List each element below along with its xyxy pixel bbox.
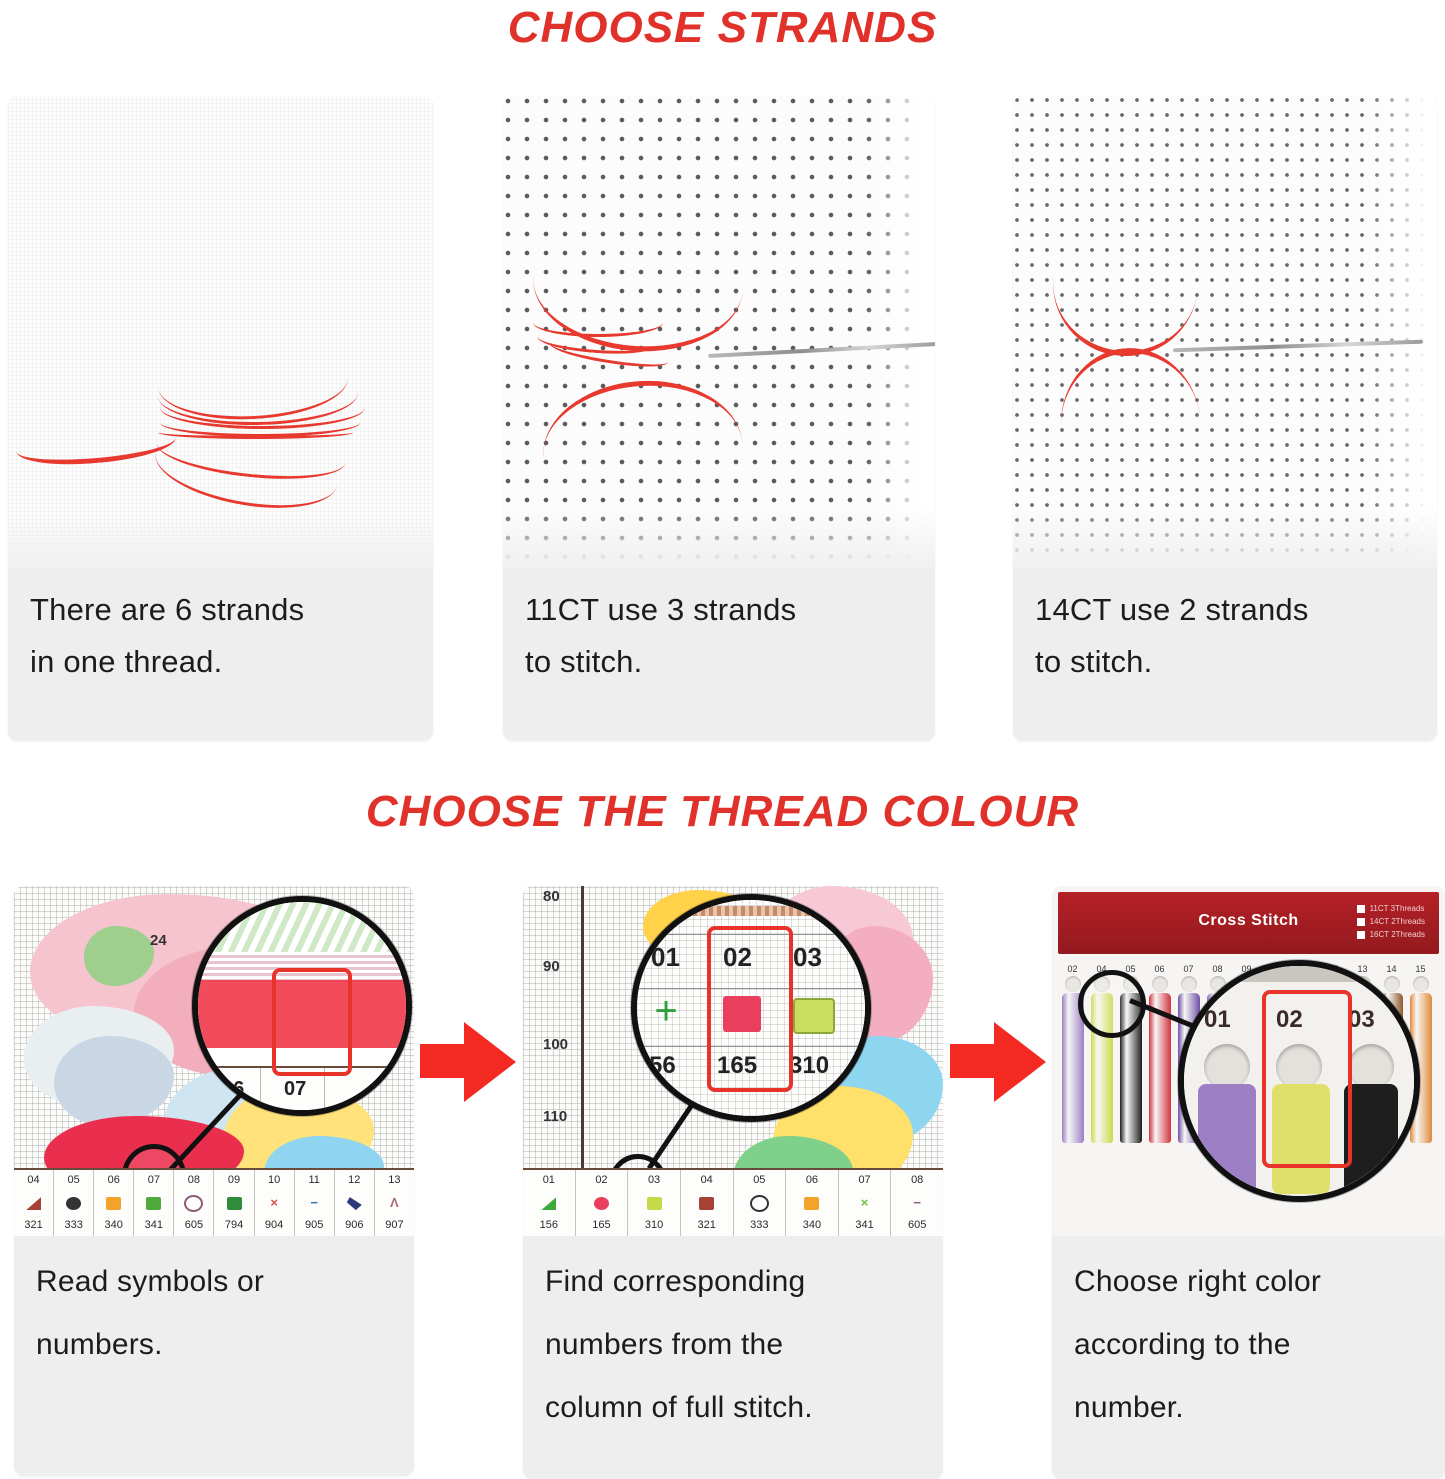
legend-column-number: 06 — [94, 1170, 134, 1191]
magnifier-lens: 06 07 — [192, 896, 412, 1116]
legend-dmc-code: 905 — [295, 1215, 335, 1236]
legend-column-number: 03 — [628, 1170, 681, 1191]
legend-symbol-row: ×−Λ — [14, 1191, 414, 1215]
legend-dmc-code: 321 — [14, 1215, 54, 1236]
legend-dmc-code: 321 — [681, 1215, 734, 1236]
symbol-outline-square — [793, 998, 835, 1034]
legend-symbol: × — [839, 1191, 892, 1215]
caption-line: according to the — [1074, 1313, 1423, 1376]
infographic-page: CHOOSE STRANDS There are 6 strands in on… — [0, 0, 1445, 1479]
legend-dmc-code: 605 — [891, 1215, 943, 1236]
chart-row-label: 100 — [543, 1036, 568, 1053]
section-heading-choose-strands: CHOOSE STRANDS — [0, 2, 1445, 54]
card-11ct-three-strands: 11CT use 3 strands to stitch. — [503, 96, 935, 741]
legend-dmc-code: 794 — [214, 1215, 254, 1236]
caption-14ct: 14CT use 2 strands to stitch. — [1013, 568, 1437, 698]
legend-column-number: 08 — [891, 1170, 943, 1191]
chart-axis-vertical — [581, 886, 584, 1178]
caption-line: 14CT use 2 strands — [1035, 584, 1415, 636]
loupe-column-label: 06 — [222, 1078, 244, 1101]
symbol-plus-icon: + — [649, 996, 683, 1030]
photo-six-strands — [8, 96, 433, 568]
arrow-head — [464, 1022, 516, 1102]
banner-legend-item: 14CT 2Threads — [1357, 917, 1425, 926]
photo-pattern-chart: 24 02 06 07 0405060 — [14, 886, 414, 1236]
checkbox-icon — [1357, 905, 1365, 913]
banner-legend-label: 11CT 3Threads — [1370, 904, 1425, 913]
legend-symbol — [681, 1191, 734, 1215]
legend-dmc-code: 333 — [734, 1215, 787, 1236]
thread-card-banner: Cross Stitch 11CT 3Threads14CT 2Threads1… — [1058, 892, 1439, 954]
legend-column-number: 01 — [523, 1170, 576, 1191]
loupe-column-label: 07 — [284, 1078, 306, 1101]
loupe-column-label: 03 — [1348, 1006, 1375, 1034]
legend-column-number: 05 — [734, 1170, 787, 1191]
highlight-box — [272, 968, 352, 1076]
legend-column-number: 02 — [576, 1170, 629, 1191]
chart-row-label: 80 — [543, 888, 560, 905]
banner-legend-label: 14CT 2Threads — [1370, 917, 1425, 926]
legend-symbol — [523, 1191, 576, 1215]
highlight-box — [707, 926, 793, 1092]
floss-skein — [1344, 1084, 1398, 1194]
legend-dmc-code: 340 — [94, 1215, 134, 1236]
legend-symbol-row: ×− — [523, 1191, 943, 1215]
photo-11ct — [503, 96, 935, 568]
section-heading-choose-thread-colour: CHOOSE THE THREAD COLOUR — [0, 786, 1445, 838]
legend-symbol — [54, 1191, 94, 1215]
legend-dmc-code: 341 — [839, 1215, 892, 1236]
banner-legend-label: 16CT 2Threads — [1370, 930, 1425, 939]
legend-column-number: 07 — [134, 1170, 174, 1191]
caption-line: column of full stitch. — [545, 1376, 921, 1439]
photo-14ct — [1013, 96, 1437, 568]
legend-column-number: 10 — [255, 1170, 295, 1191]
skein-hole — [1413, 976, 1429, 992]
legend-dmc-code: 310 — [628, 1215, 681, 1236]
arrow-shaft — [420, 1044, 468, 1078]
legend-symbol: × — [255, 1191, 295, 1215]
legend-number-row: 0102030405060708 — [523, 1170, 943, 1191]
chart-area-label: 24 — [150, 932, 167, 949]
legend-symbol: − — [295, 1191, 335, 1215]
legend-dmc-code: 333 — [54, 1215, 94, 1236]
loupe-code-label: 310 — [789, 1052, 829, 1080]
chart-row-label: 110 — [543, 1108, 567, 1125]
arrow-right-icon-2 — [950, 1022, 1046, 1102]
legend-column-number: 12 — [335, 1170, 375, 1191]
caption-find-numbers: Find corresponding numbers from the colu… — [523, 1236, 943, 1449]
caption-line: 11CT use 3 strands — [525, 584, 913, 636]
caption-line: Choose right color — [1074, 1250, 1423, 1313]
caption-line: to stitch. — [525, 636, 913, 688]
loupe-column-label: 03 — [793, 942, 822, 973]
checkbox-icon — [1357, 918, 1365, 926]
photo-bottom-fade — [8, 508, 433, 568]
caption-11ct: 11CT use 3 strands to stitch. — [503, 568, 935, 698]
skein-hole — [1065, 976, 1081, 992]
legend-dmc-code: 906 — [335, 1215, 375, 1236]
legend-column-number: 06 — [786, 1170, 839, 1191]
highlight-box — [1262, 990, 1352, 1168]
caption-line: numbers from the — [545, 1313, 921, 1376]
legend-symbol — [214, 1191, 254, 1215]
legend-column-number: 04 — [14, 1170, 54, 1191]
loupe-code-label: 56 — [649, 1052, 676, 1080]
legend-symbol — [576, 1191, 629, 1215]
caption-line: Read symbols or — [36, 1250, 392, 1313]
loupe-column-label: 01 — [651, 942, 680, 973]
photo-bottom-fade — [1013, 508, 1437, 568]
legend-column-number: 13 — [375, 1170, 414, 1191]
caption-line: to stitch. — [1035, 636, 1415, 688]
caption-choose-color: Choose right color according to the numb… — [1052, 1236, 1445, 1449]
card-14ct-two-strands: 14CT use 2 strands to stitch. — [1013, 96, 1437, 741]
caption-line: numbers. — [36, 1313, 392, 1376]
legend-dmc-code: 156 — [523, 1215, 576, 1236]
card-find-numbers: 8090100110 01 02 03 + 56 165 310 — [523, 886, 943, 1479]
banner-legend-list: 11CT 3Threads14CT 2Threads16CT 2Threads — [1357, 904, 1425, 943]
caption-line: in one thread. — [30, 636, 411, 688]
legend-symbol: − — [891, 1191, 943, 1215]
card-six-strands: There are 6 strands in one thread. — [8, 96, 433, 741]
photo-right-fade — [865, 96, 935, 568]
legend-dmc-code: 165 — [576, 1215, 629, 1236]
skein-number: 06 — [1147, 964, 1172, 974]
legend-symbol — [94, 1191, 134, 1215]
legend-dmc-code: 907 — [375, 1215, 414, 1236]
photo-right-fade — [1367, 96, 1437, 568]
legend-column-number: 07 — [839, 1170, 892, 1191]
legend-dmc-row: 156165310321333340341605 — [523, 1215, 943, 1236]
caption-line: There are 6 strands — [30, 584, 411, 636]
legend-number-row: 04050607080910111213 — [14, 1170, 414, 1191]
banner-legend-item: 16CT 2Threads — [1357, 930, 1425, 939]
legend-symbol — [134, 1191, 174, 1215]
checkbox-icon — [1357, 931, 1365, 939]
loupe-column-label: 01 — [1204, 1006, 1231, 1034]
chart-legend-strip: 04050607080910111213 ×−Λ 321333340341605… — [14, 1168, 414, 1236]
caption-read-symbols: Read symbols or numbers. — [14, 1236, 414, 1386]
floss-skein — [1198, 1084, 1256, 1194]
banner-legend-item: 11CT 3Threads — [1357, 904, 1425, 913]
legend-dmc-code: 340 — [786, 1215, 839, 1236]
card-choose-color: Cross Stitch 11CT 3Threads14CT 2Threads1… — [1052, 886, 1445, 1479]
skein-hole — [1152, 976, 1168, 992]
skein-number: 02 — [1060, 964, 1085, 974]
legend-symbol: Λ — [375, 1191, 414, 1215]
legend-symbol — [335, 1191, 375, 1215]
legend-dmc-code: 605 — [174, 1215, 214, 1236]
legend-symbol — [14, 1191, 54, 1215]
photo-thread-organiser: Cross Stitch 11CT 3Threads14CT 2Threads1… — [1052, 886, 1445, 1236]
magnifier-lens: 01 02 03 + 56 165 310 — [631, 894, 871, 1122]
arrow-head — [994, 1022, 1046, 1102]
arrow-shaft — [950, 1044, 998, 1078]
legend-symbol — [734, 1191, 787, 1215]
caption-line: Find corresponding — [545, 1250, 921, 1313]
legend-symbol — [174, 1191, 214, 1215]
caption-six-strands: There are 6 strands in one thread. — [8, 568, 433, 698]
legend-symbol — [628, 1191, 681, 1215]
card-read-symbols: 24 02 06 07 0405060 — [14, 886, 414, 1476]
legend-column-number: 11 — [295, 1170, 335, 1191]
legend-column-number: 05 — [54, 1170, 94, 1191]
chart-legend-strip: 0102030405060708 ×− 15616531032133334034… — [523, 1168, 943, 1236]
magnifier-lens: 01 02 03 — [1178, 960, 1420, 1202]
legend-column-number: 04 — [681, 1170, 734, 1191]
legend-symbol — [786, 1191, 839, 1215]
legend-dmc-code: 341 — [134, 1215, 174, 1236]
legend-dmc-code: 904 — [255, 1215, 295, 1236]
photo-bottom-fade — [503, 508, 935, 568]
caption-line: number. — [1074, 1376, 1423, 1439]
arrow-right-icon-1 — [420, 1022, 516, 1102]
chart-row-label: 90 — [543, 958, 560, 975]
legend-column-number: 09 — [214, 1170, 254, 1191]
photo-legend-chart: 8090100110 01 02 03 + 56 165 310 — [523, 886, 943, 1236]
legend-column-number: 08 — [174, 1170, 214, 1191]
legend-dmc-row: 321333340341605794904905906907 — [14, 1215, 414, 1236]
skein-column: 06 — [1147, 964, 1172, 1143]
